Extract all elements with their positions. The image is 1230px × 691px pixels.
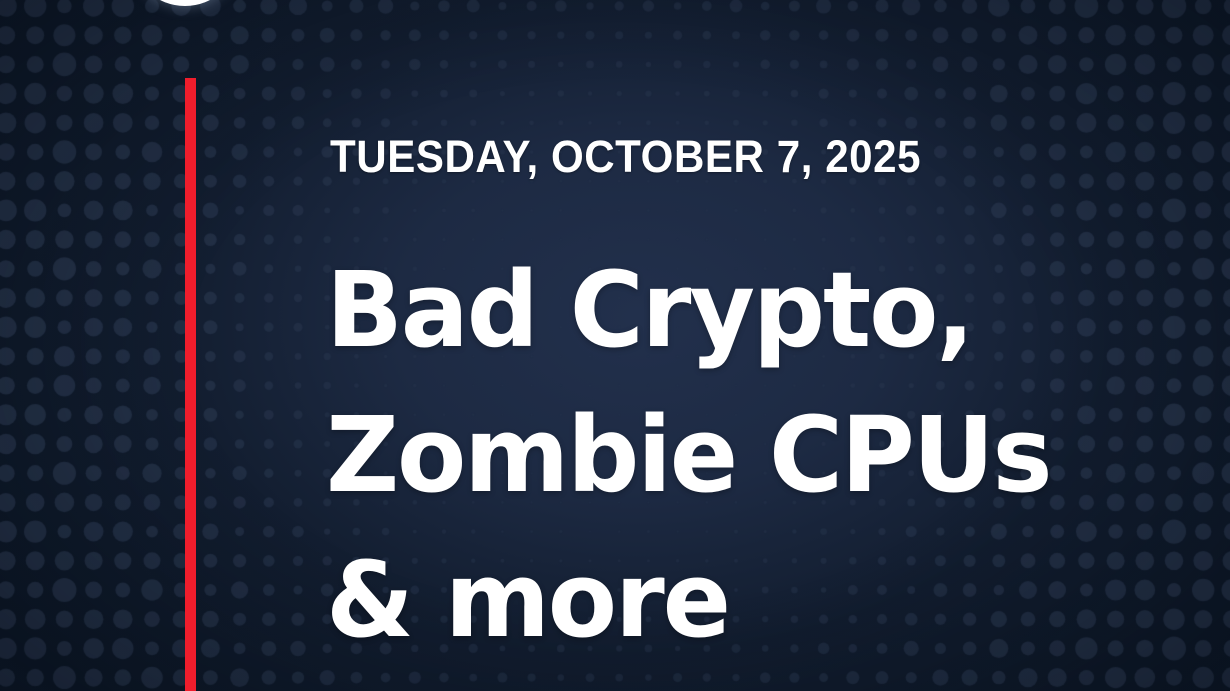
headline-line-1: Bad Crypto, xyxy=(326,238,1180,383)
date-label: TUESDAY, OCTOBER 7, 2025 xyxy=(330,131,921,183)
headline-line-2: Zombie CPUs xyxy=(326,383,1180,528)
page-title: Bad Crypto, Zombie CPUs & more xyxy=(326,238,1206,673)
headline-line-3: & more xyxy=(326,528,1180,673)
text-content: TUESDAY, OCTOBER 7, 2025 Bad Crypto, Zom… xyxy=(330,0,1190,691)
digest-card: TUESDAY, OCTOBER 7, 2025 Bad Crypto, Zom… xyxy=(0,0,1230,691)
red-accent-bar xyxy=(185,78,196,691)
